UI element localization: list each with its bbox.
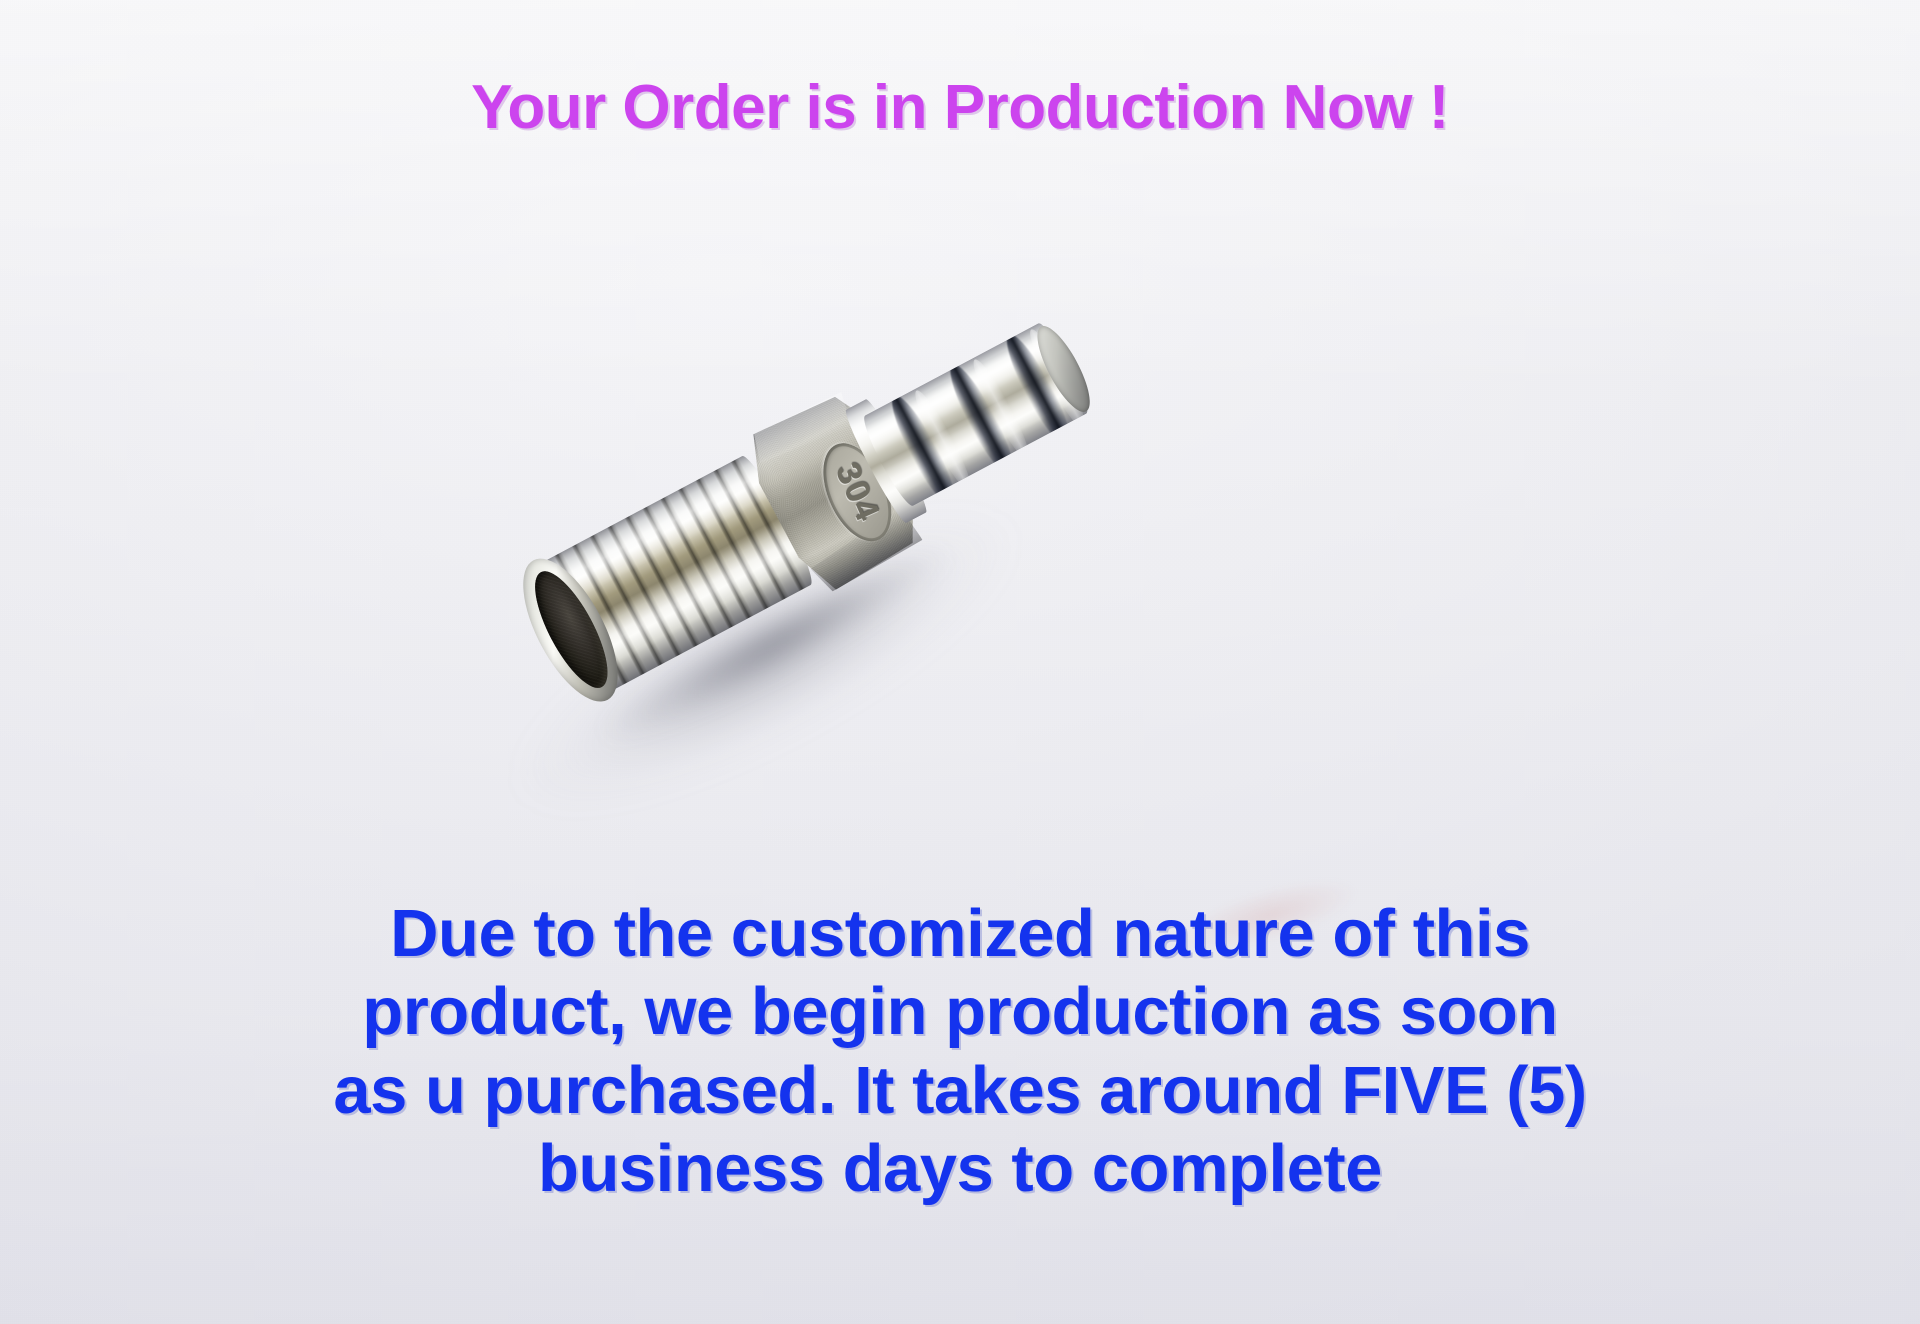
notice-line: as u purchased. It takes around FIVE (5) <box>180 1052 1740 1130</box>
page-title: Your Order is in Production Now ! <box>0 72 1920 143</box>
notice-line: business days to complete <box>180 1130 1740 1208</box>
notice-line: Due to the customized nature of this <box>180 895 1740 973</box>
product-photo: 304 <box>455 285 1155 755</box>
promo-banner: Your Order is in Production Now ! <box>0 0 1920 1324</box>
production-notice: Due to the customized nature of this pro… <box>180 895 1740 1209</box>
notice-line: product, we begin production as soon <box>180 973 1740 1051</box>
